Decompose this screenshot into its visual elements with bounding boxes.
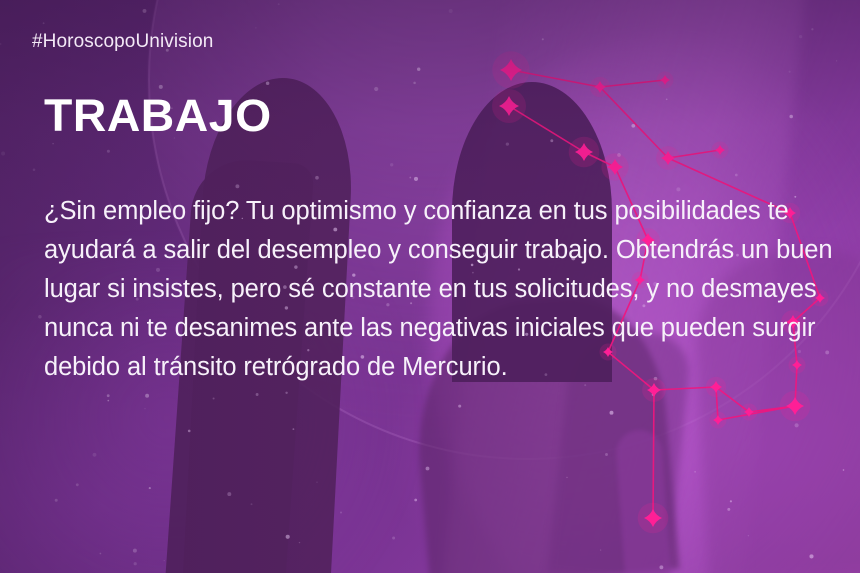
page-title: TRABAJO bbox=[44, 90, 272, 142]
hashtag-label: #HoroscopoUnivision bbox=[32, 31, 213, 53]
horoscope-body-text: ¿Sin empleo fijo? Tu optimismo y confian… bbox=[44, 192, 834, 387]
text-content: #HoroscopoUnivision TRABAJO ¿Sin empleo … bbox=[0, 0, 860, 573]
horoscope-card: #HoroscopoUnivision TRABAJO ¿Sin empleo … bbox=[0, 0, 860, 573]
